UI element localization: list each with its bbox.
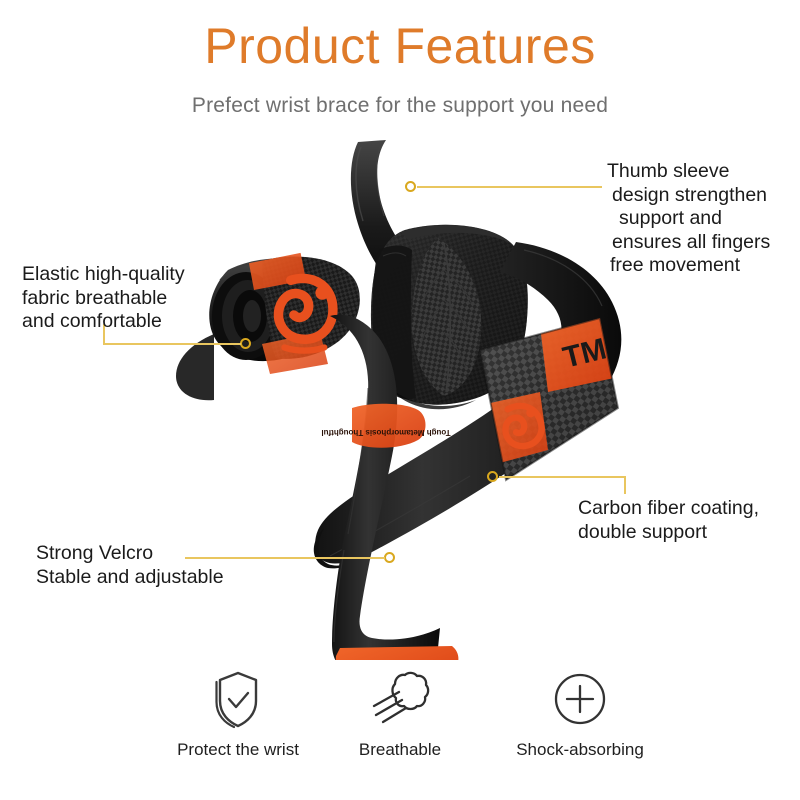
- callout-line: Elastic high-quality: [22, 263, 237, 287]
- page-title: Product Features: [0, 18, 800, 74]
- leader-line-carbon-h: [499, 476, 626, 478]
- callout-line: support and: [607, 207, 797, 231]
- feature-breathable: Breathable: [310, 668, 490, 760]
- callout-line: Thumb sleeve: [607, 160, 797, 184]
- brand-end-tab: Tough Metamorphosis Thoughtful: [323, 646, 468, 660]
- shield-check-icon: [148, 668, 328, 730]
- leader-line-elastic-h: [103, 343, 241, 345]
- leader-line-carbon-v: [624, 476, 626, 494]
- callout-line: Carbon fiber coating,: [578, 497, 798, 521]
- leader-dot-carbon: [487, 471, 498, 482]
- feature-label: Shock-absorbing: [490, 740, 670, 760]
- page-subtitle: Prefect wrist brace for the support you …: [0, 93, 800, 119]
- callout-carbon-fiber: Carbon fiber coating, double support: [578, 497, 798, 544]
- callout-line: and comfortable: [22, 310, 237, 334]
- mid-brand-tab: Tough Metamorphosis Thoughtful: [321, 404, 450, 448]
- callout-line: ensures all fingers: [607, 231, 797, 255]
- feature-label: Breathable: [310, 740, 490, 760]
- callout-line: free movement: [607, 254, 797, 278]
- callout-line: fabric breathable: [22, 287, 237, 311]
- mid-tab-text: Tough Metamorphosis Thoughtful: [321, 428, 450, 437]
- feature-label: Protect the wrist: [148, 740, 328, 760]
- callout-line: design strengthen: [607, 184, 797, 208]
- callout-line: Stable and adjustable: [36, 566, 271, 590]
- feature-shock-absorbing: Shock-absorbing: [490, 668, 670, 760]
- callout-line: double support: [578, 521, 798, 545]
- infographic-canvas: Product Features Prefect wrist brace for…: [0, 0, 800, 800]
- callout-elastic-fabric: Elastic high-quality fabric breathable a…: [22, 263, 237, 334]
- circle-plus-icon: [490, 668, 670, 730]
- wind-cloud-icon: [310, 668, 490, 730]
- feature-protect-the-wrist: Protect the wrist: [148, 668, 328, 760]
- leader-line-thumb-sleeve: [417, 186, 602, 188]
- leader-dot-thumb-sleeve: [405, 181, 416, 192]
- callout-thumb-sleeve: Thumb sleeve design strengthen support a…: [607, 160, 797, 278]
- leader-dot-elastic: [240, 338, 251, 349]
- leader-dot-velcro: [384, 552, 395, 563]
- callout-strong-velcro: Strong Velcro Stable and adjustable: [36, 542, 271, 589]
- callout-line: Strong Velcro: [36, 542, 271, 566]
